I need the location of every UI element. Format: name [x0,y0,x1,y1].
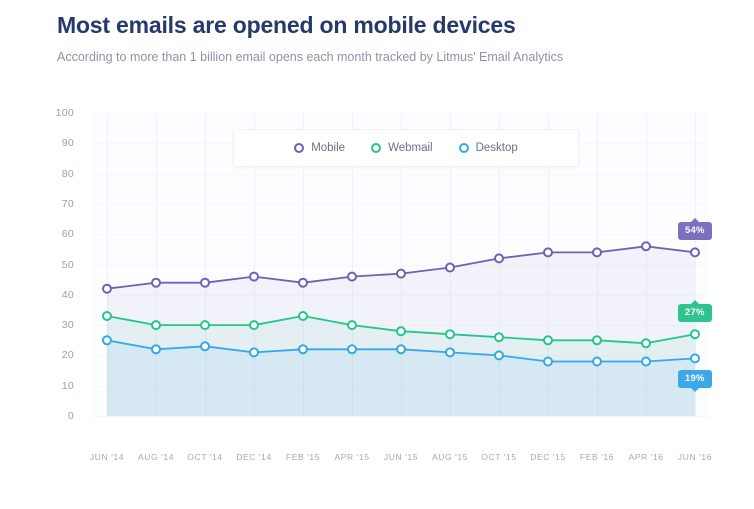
legend-label: Mobile [311,142,345,154]
data-point[interactable] [250,348,258,356]
x-axis-tick: DEC '14 [236,452,272,462]
x-axis-tick: AUG '15 [432,452,468,462]
x-axis-tick: OCT '15 [481,452,516,462]
circle-outline-icon [459,143,469,153]
x-axis-tick: DEC '15 [530,452,566,462]
data-point[interactable] [544,336,552,344]
y-axis-tick: 0 [68,410,74,422]
x-axis-tick: AUG '14 [138,452,174,462]
data-point[interactable] [201,279,209,287]
data-point[interactable] [642,242,650,250]
y-axis-tick: 10 [62,380,74,392]
data-point[interactable] [642,358,650,366]
data-point[interactable] [495,351,503,359]
data-point[interactable] [348,273,356,281]
y-axis-tick: 20 [62,349,74,361]
data-point[interactable] [397,327,405,335]
callout-value: 19% [685,373,705,384]
x-axis-tick: FEB '15 [286,452,320,462]
data-point[interactable] [544,248,552,256]
data-point[interactable] [593,358,601,366]
data-point[interactable] [103,285,111,293]
y-axis-tick: 80 [62,168,74,180]
page-subtitle: According to more than 1 billion email o… [57,49,714,66]
data-point[interactable] [348,345,356,353]
data-point[interactable] [544,358,552,366]
data-point[interactable] [446,348,454,356]
data-point[interactable] [201,342,209,350]
x-axis-tick: OCT '14 [187,452,222,462]
horizontal-gridline [93,416,709,417]
page-title: Most emails are opened on mobile devices [57,10,714,40]
legend-item-desktop[interactable]: Desktop [459,142,518,154]
x-axis-labels: JUN '14AUG '14OCT '14DEC '14FEB '15APR '… [93,452,709,472]
y-axis-tick: 70 [62,198,74,210]
data-point[interactable] [250,321,258,329]
y-axis-tick: 100 [56,107,74,119]
data-point[interactable] [691,354,699,362]
data-point[interactable] [103,336,111,344]
data-point[interactable] [642,339,650,347]
chart-card: Most emails are opened on mobile devices… [0,0,754,509]
y-axis-tick: 50 [62,259,74,271]
data-point[interactable] [299,345,307,353]
legend-item-webmail[interactable]: Webmail [371,142,433,154]
data-point[interactable] [495,333,503,341]
y-axis-tick: 30 [62,319,74,331]
y-axis-tick: 40 [62,289,74,301]
data-point[interactable] [593,248,601,256]
callout-webmail: 27% [678,304,712,322]
data-point[interactable] [152,279,160,287]
callout-value: 54% [685,225,705,236]
callout-desktop: 19% [678,370,712,388]
data-point[interactable] [152,321,160,329]
chart-header: Most emails are opened on mobile devices… [57,10,714,66]
x-axis-tick: JUN '16 [678,452,712,462]
x-axis-tick: FEB '16 [580,452,614,462]
y-axis-tick: 90 [62,137,74,149]
callout-value: 27% [685,307,705,318]
x-axis-tick: JUN '14 [90,452,124,462]
data-point[interactable] [397,345,405,353]
data-point[interactable] [250,273,258,281]
circle-outline-icon [371,143,381,153]
data-point[interactable] [103,312,111,320]
data-point[interactable] [691,248,699,256]
data-point[interactable] [397,270,405,278]
data-point[interactable] [201,321,209,329]
data-point[interactable] [446,330,454,338]
data-point[interactable] [299,279,307,287]
data-point[interactable] [495,254,503,262]
data-point[interactable] [152,345,160,353]
callout-mobile: 54% [678,222,712,240]
data-point[interactable] [348,321,356,329]
y-axis-labels: 0102030405060708090100 [0,113,86,416]
data-point[interactable] [446,264,454,272]
chart-legend: MobileWebmailDesktop [233,129,579,167]
x-axis-tick: APR '15 [334,452,369,462]
x-axis-tick: JUN '15 [384,452,418,462]
data-point[interactable] [299,312,307,320]
legend-label: Desktop [476,142,518,154]
circle-outline-icon [294,143,304,153]
legend-label: Webmail [388,142,433,154]
data-point[interactable] [691,330,699,338]
y-axis-tick: 60 [62,228,74,240]
data-point[interactable] [593,336,601,344]
x-axis-tick: APR '16 [628,452,663,462]
legend-item-mobile[interactable]: Mobile [294,142,345,154]
